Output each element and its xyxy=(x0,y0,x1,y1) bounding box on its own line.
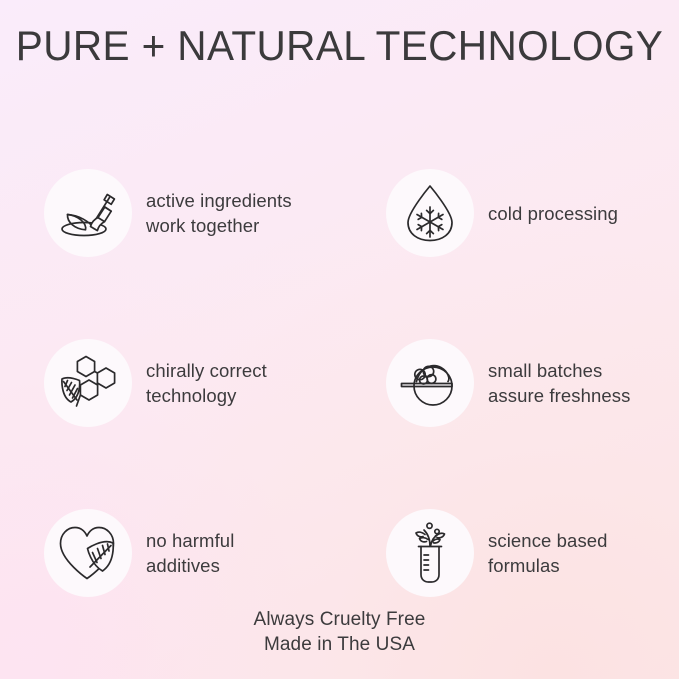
feature-small-batches: small batches assure freshness xyxy=(344,298,644,468)
feature-row: active ingredients work together xyxy=(44,128,644,298)
feature-label: no harmful additives xyxy=(146,528,234,578)
feature-grid: active ingredients work together xyxy=(44,128,644,638)
scoop-spheres-icon xyxy=(386,339,474,427)
feature-row: chirally correct technology xyxy=(44,298,644,468)
feature-label: active ingredients work together xyxy=(146,188,292,238)
droplet-snowflake-icon xyxy=(386,169,474,257)
dropper-leaf-dish-icon xyxy=(44,169,132,257)
feature-label: chirally correct technology xyxy=(146,358,267,408)
feature-label: cold processing xyxy=(488,201,618,226)
feature-active-ingredients: active ingredients work together xyxy=(44,128,344,298)
feature-cold-processing: cold processing xyxy=(344,128,644,298)
test-tube-plant-icon xyxy=(386,509,474,597)
feature-label: small batches assure freshness xyxy=(488,358,630,408)
feature-label: science based formulas xyxy=(488,528,608,578)
molecule-hexagons-leaf-icon xyxy=(44,339,132,427)
footer-text: Always Cruelty Free Made in The USA xyxy=(0,607,679,657)
page-title: PURE + NATURAL TECHNOLOGY xyxy=(12,22,667,70)
feature-chirally-correct: chirally correct technology xyxy=(44,298,344,468)
infographic-panel: PURE + NATURAL TECHNOLOGY xyxy=(0,0,679,679)
heart-leaf-icon xyxy=(44,509,132,597)
